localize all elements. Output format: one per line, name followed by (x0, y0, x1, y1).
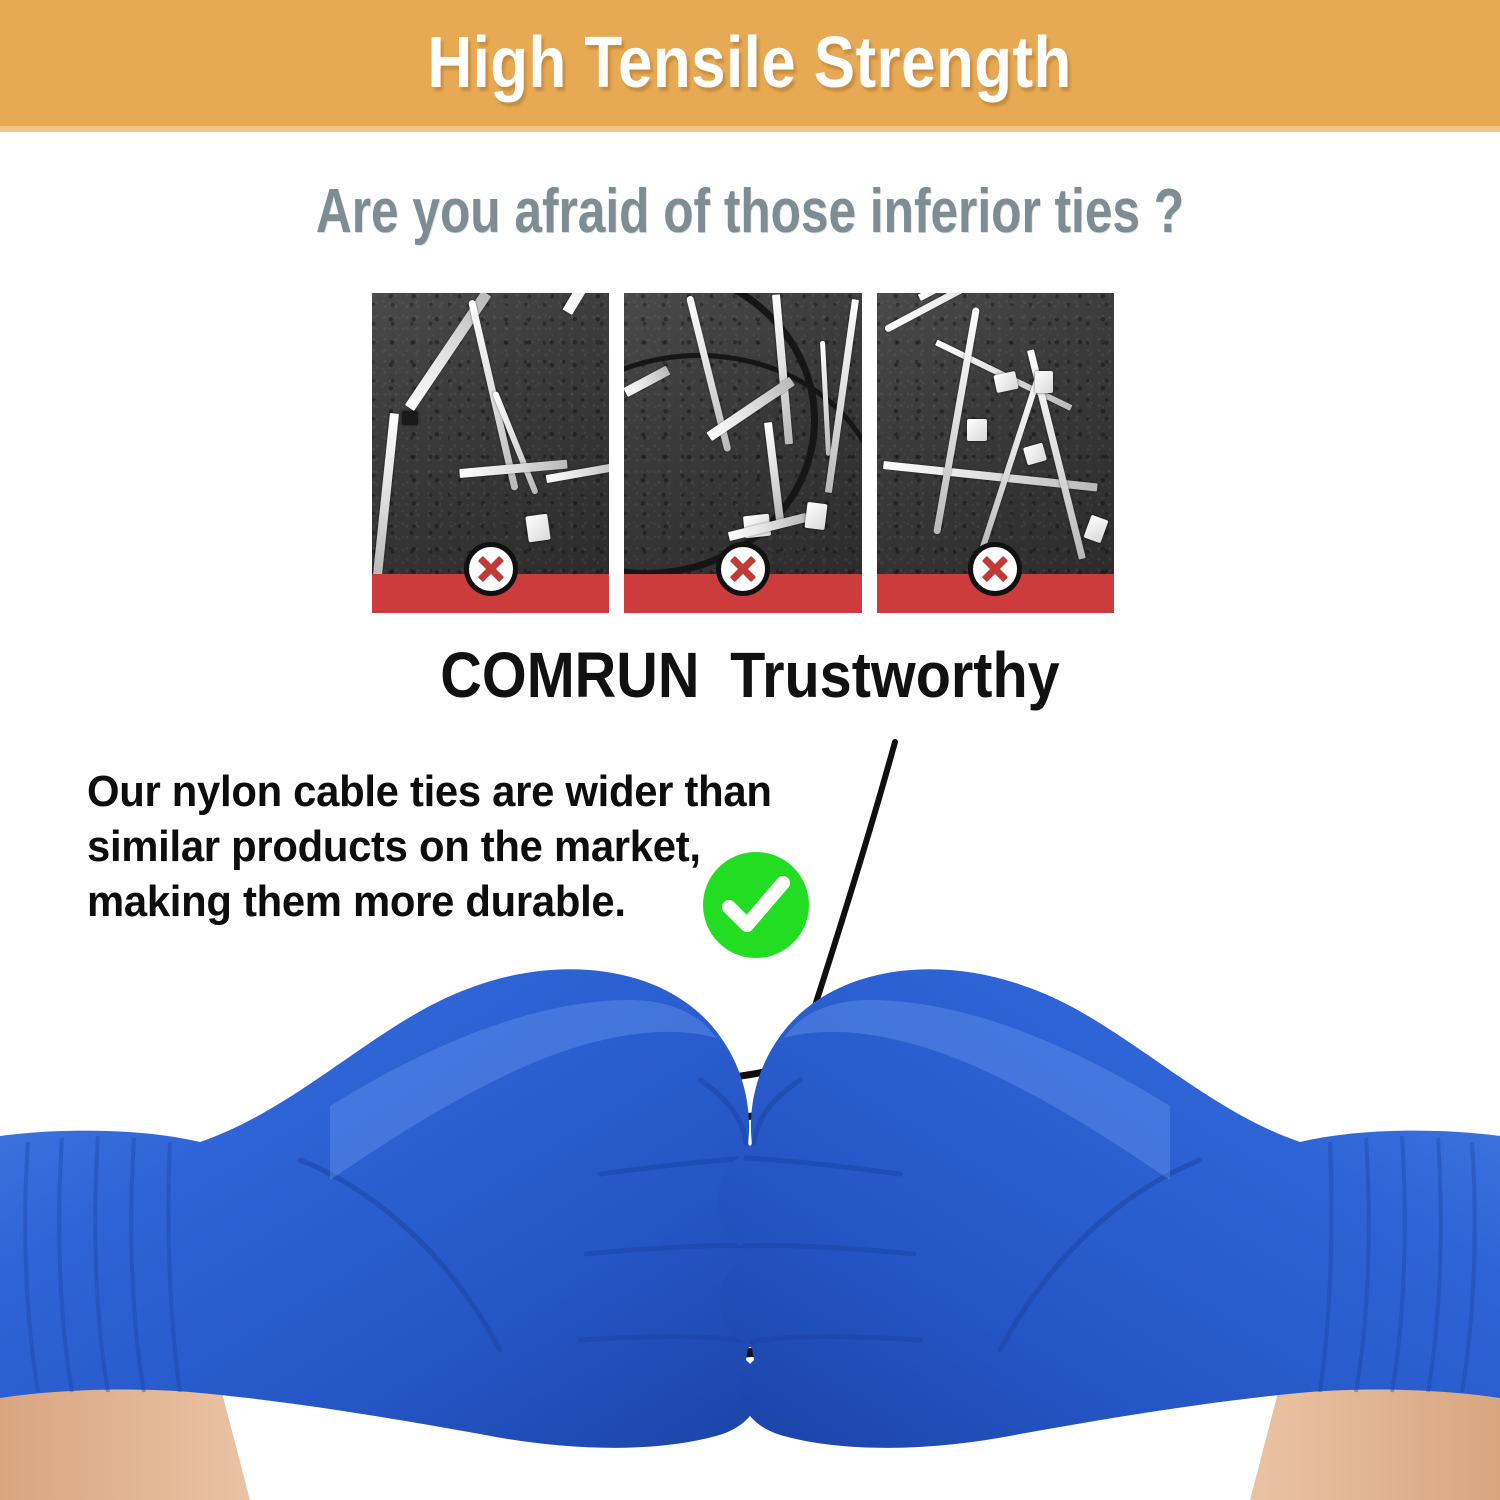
body-copy-line-1: Our nylon cable ties are wider than (87, 764, 752, 819)
body-copy-line-3: making them more durable. (87, 874, 752, 929)
cable-tie-head (967, 419, 987, 441)
gloved-hands-photo (0, 930, 1500, 1500)
header-underline (0, 126, 1500, 132)
body-copy: Our nylon cable ties are wider than simi… (87, 764, 752, 929)
broken-ties-panel-2 (624, 293, 861, 613)
cable-tie-head (525, 514, 550, 543)
cable-tie-head (1035, 371, 1053, 393)
broken-ties-panel-3 (877, 293, 1114, 613)
cable-tie-head (402, 411, 418, 425)
inferior-ties-panel-strip (372, 293, 1114, 613)
x-mark-icon (968, 542, 1022, 596)
right-glove (718, 969, 1500, 1448)
body-copy-line-2: similar products on the market, (87, 819, 752, 874)
cable-tie-head (805, 502, 828, 530)
x-mark-icon (464, 542, 518, 596)
x-mark-icon (716, 542, 770, 596)
broken-ties-panel-1 (372, 293, 609, 613)
brand-trust-word: Trustworthy (730, 639, 1060, 711)
brand-tagline: COMRUNTrustworthy (75, 640, 1425, 710)
product-infographic: High Tensile Strength Are you afraid of … (0, 0, 1500, 1500)
brand-name: COMRUN (440, 639, 699, 711)
subtitle-question: Are you afraid of those inferior ties ? (150, 178, 1350, 246)
page-title: High Tensile Strength (428, 27, 1072, 99)
asphalt-background (372, 293, 609, 574)
check-mark-icon (703, 852, 809, 958)
left-glove (0, 969, 782, 1448)
header-banner: High Tensile Strength (0, 0, 1500, 126)
